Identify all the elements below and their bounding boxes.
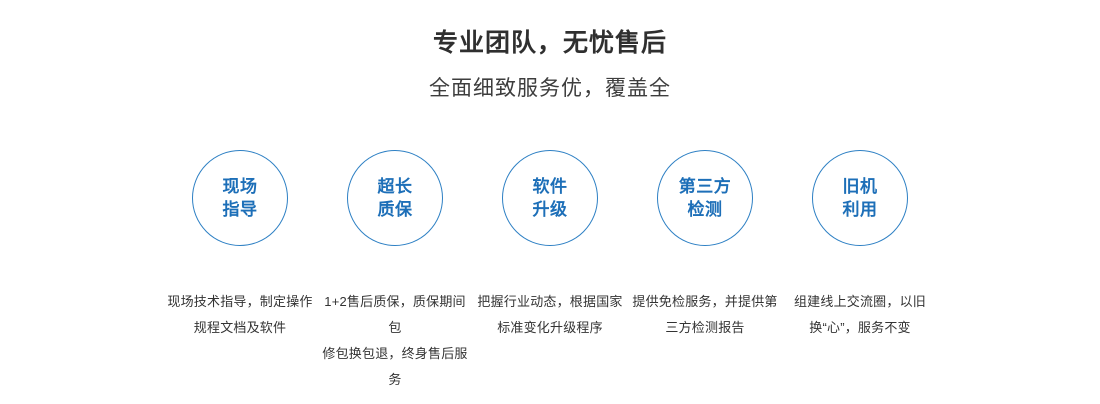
section-heading: 专业团队，无忧售后 全面细致服务优，覆盖全 [0,0,1100,104]
circle-badge-extended-warranty[interactable]: 超长 质保 [347,150,443,246]
circle-badge-label: 超长 质保 [378,175,413,221]
circle-badge-label: 第三方 检测 [679,175,732,221]
service-card-caption: 组建线上交流圈，以旧 换“心”，服务不变 [784,289,936,341]
service-card-list: 现场 指导 现场技术指导，制定操作 规程文档及软件 超长 质保 1+2售后质保，… [0,150,1100,393]
service-card[interactable]: 旧机 利用 组建线上交流圈，以旧 换“心”，服务不变 [783,150,938,341]
service-card[interactable]: 第三方 检测 提供免检服务，并提供第 三方检测报告 [628,150,783,341]
circle-badge-label: 软件 升级 [533,175,568,221]
service-card[interactable]: 软件 升级 把握行业动态，根据国家 标准变化升级程序 [473,150,628,341]
circle-badge-on-site-guidance[interactable]: 现场 指导 [192,150,288,246]
service-card-caption: 1+2售后质保，质保期间包 修包换包退，终身售后服务 [319,289,471,393]
page-subtitle: 全面细致服务优，覆盖全 [0,74,1100,104]
service-promise-section: 专业团队，无忧售后 全面细致服务优，覆盖全 现场 指导 现场技术指导，制定操作 … [0,0,1100,404]
circle-badge-label: 现场 指导 [223,175,258,221]
service-card-caption: 把握行业动态，根据国家 标准变化升级程序 [474,289,626,341]
service-card[interactable]: 现场 指导 现场技术指导，制定操作 规程文档及软件 [163,150,318,341]
service-card-caption: 提供免检服务，并提供第 三方检测报告 [629,289,781,341]
circle-badge-old-machine-reuse[interactable]: 旧机 利用 [812,150,908,246]
circle-badge-label: 旧机 利用 [843,175,878,221]
circle-badge-software-upgrade[interactable]: 软件 升级 [502,150,598,246]
service-card-caption: 现场技术指导，制定操作 规程文档及软件 [164,289,316,341]
page-title: 专业团队，无忧售后 [0,26,1100,60]
circle-badge-third-party-inspection[interactable]: 第三方 检测 [657,150,753,246]
service-card[interactable]: 超长 质保 1+2售后质保，质保期间包 修包换包退，终身售后服务 [318,150,473,393]
